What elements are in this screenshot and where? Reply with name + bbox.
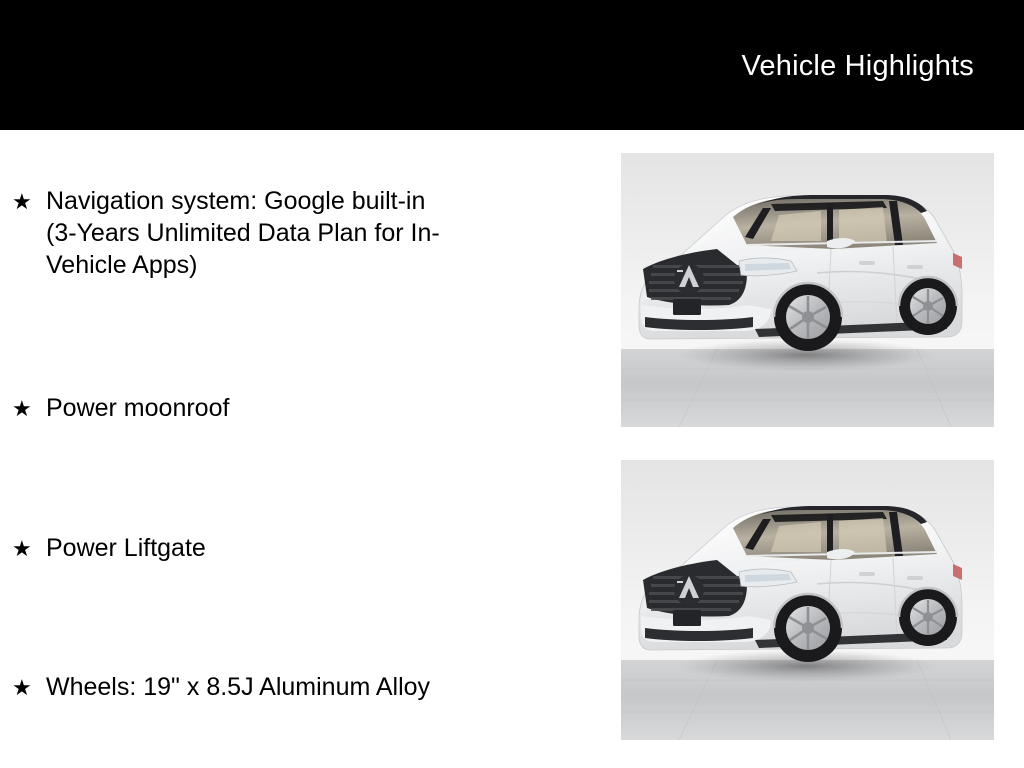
list-item-label: Power Liftgate (46, 532, 572, 564)
list-item: ★ Power Liftgate (12, 532, 572, 565)
list-item: ★ Navigation system: Google built-in (3-… (12, 185, 572, 281)
slide-body: ★ Navigation system: Google built-in (3-… (0, 130, 1024, 768)
vehicle-photo-top (621, 153, 994, 427)
list-item-label: Wheels: 19" x 8.5J Aluminum Alloy (46, 671, 572, 703)
vehicle-highlights-list: ★ Navigation system: Google built-in (3-… (0, 130, 600, 768)
header-band: Vehicle Highlights (0, 0, 1024, 130)
list-item-label: Navigation system: Google built-in (3-Ye… (46, 185, 572, 281)
vehicle-photo-bottom-image (621, 460, 994, 740)
star-bullet-icon: ★ (12, 671, 46, 704)
vehicle-photo-bottom (621, 460, 994, 740)
vehicle-photo-top-image (621, 153, 994, 427)
star-bullet-icon: ★ (12, 532, 46, 565)
list-item-label: Power moonroof (46, 392, 572, 424)
list-item: ★ Power moonroof (12, 392, 572, 425)
page-title: Vehicle Highlights (741, 49, 974, 83)
star-bullet-icon: ★ (12, 392, 46, 425)
star-bullet-icon: ★ (12, 185, 46, 218)
list-item: ★ Wheels: 19" x 8.5J Aluminum Alloy (12, 671, 572, 704)
